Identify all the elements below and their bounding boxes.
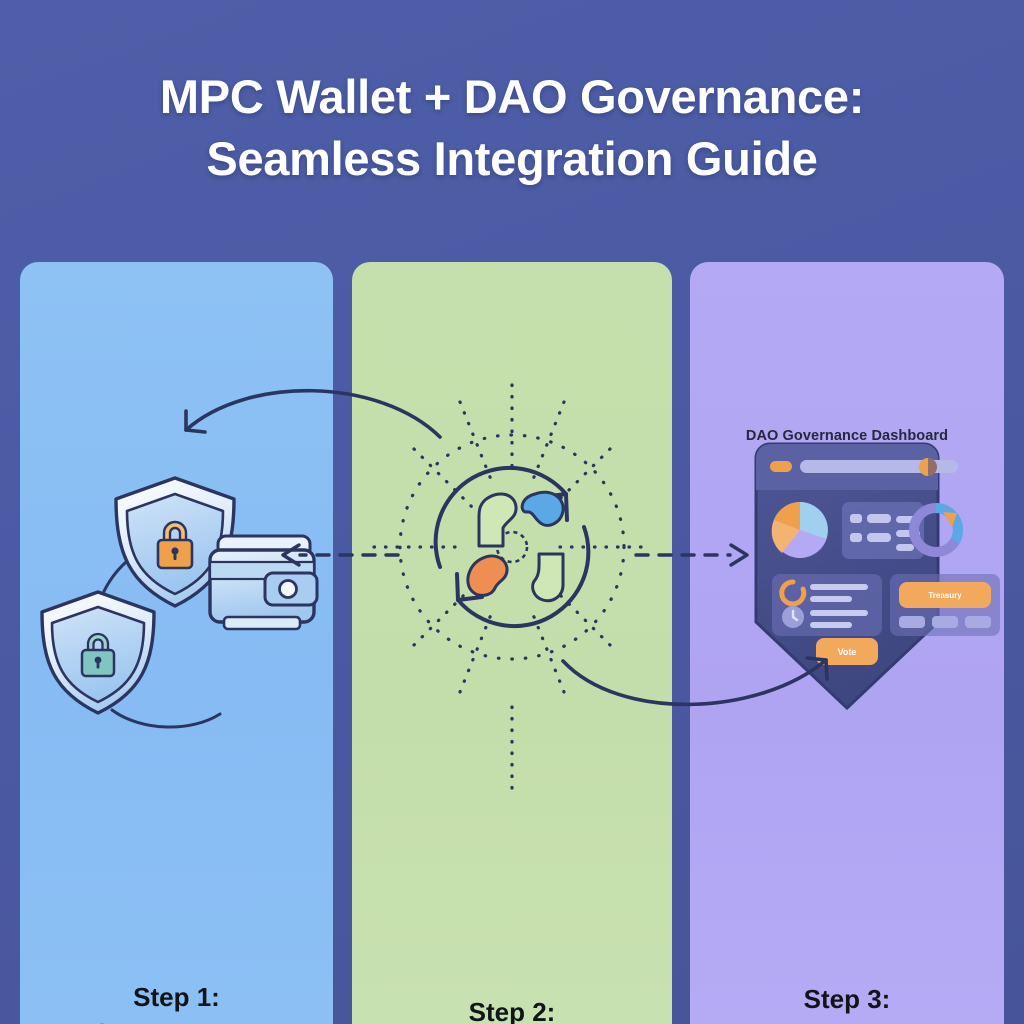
step-panel-3: Treasury Vote Step 3: Participate in Gov… xyxy=(690,262,1004,1024)
step-1-line2: Connect Your xyxy=(20,1016,333,1024)
vote-button-label: Vote xyxy=(816,638,878,665)
dashboard-pie-chart xyxy=(772,502,828,558)
title-line-1: MPC Wallet + DAO Governance: xyxy=(160,70,864,123)
step-panel-2: Step 2: Establish Secure Link xyxy=(352,262,672,1024)
infographic-canvas: MPC Wallet + DAO Governance: Seamless In… xyxy=(0,0,1024,1024)
dashboard-caption: DAO Governance Dashboard xyxy=(690,428,1004,444)
step-2-label: Step 2: Establish Secure Link xyxy=(352,995,672,1024)
secure-link-illustration xyxy=(352,262,672,1024)
step-3-line2: Participate in xyxy=(690,1018,1004,1024)
step-3-title: Step 3: xyxy=(690,982,1004,1018)
dashboard-activity-card xyxy=(772,574,882,636)
step-panel-1: Step 1: Connect Your MPC Wallet xyxy=(20,262,333,1024)
step-1-label: Step 1: Connect Your MPC Wallet xyxy=(20,980,333,1024)
treasury-button-label: Treasury xyxy=(899,582,991,608)
puzzle-pieces-icon xyxy=(468,492,563,600)
title-line-2: Seamless Integration Guide xyxy=(0,128,1024,190)
radiating-dotted-rays-icon xyxy=(374,385,650,799)
shield-lock-teal-icon xyxy=(42,592,154,713)
dashboard-tab-pill xyxy=(770,461,792,472)
step-2-title: Step 2: xyxy=(352,995,672,1024)
mpc-wallet-illustration xyxy=(20,262,333,1024)
sync-arrows-icon xyxy=(436,468,589,626)
step-3-label: Step 3: Participate in Governance xyxy=(690,982,1004,1024)
wallet-icon xyxy=(210,536,317,629)
step-1-title: Step 1: xyxy=(20,980,333,1016)
page-title: MPC Wallet + DAO Governance: Seamless In… xyxy=(0,66,1024,190)
